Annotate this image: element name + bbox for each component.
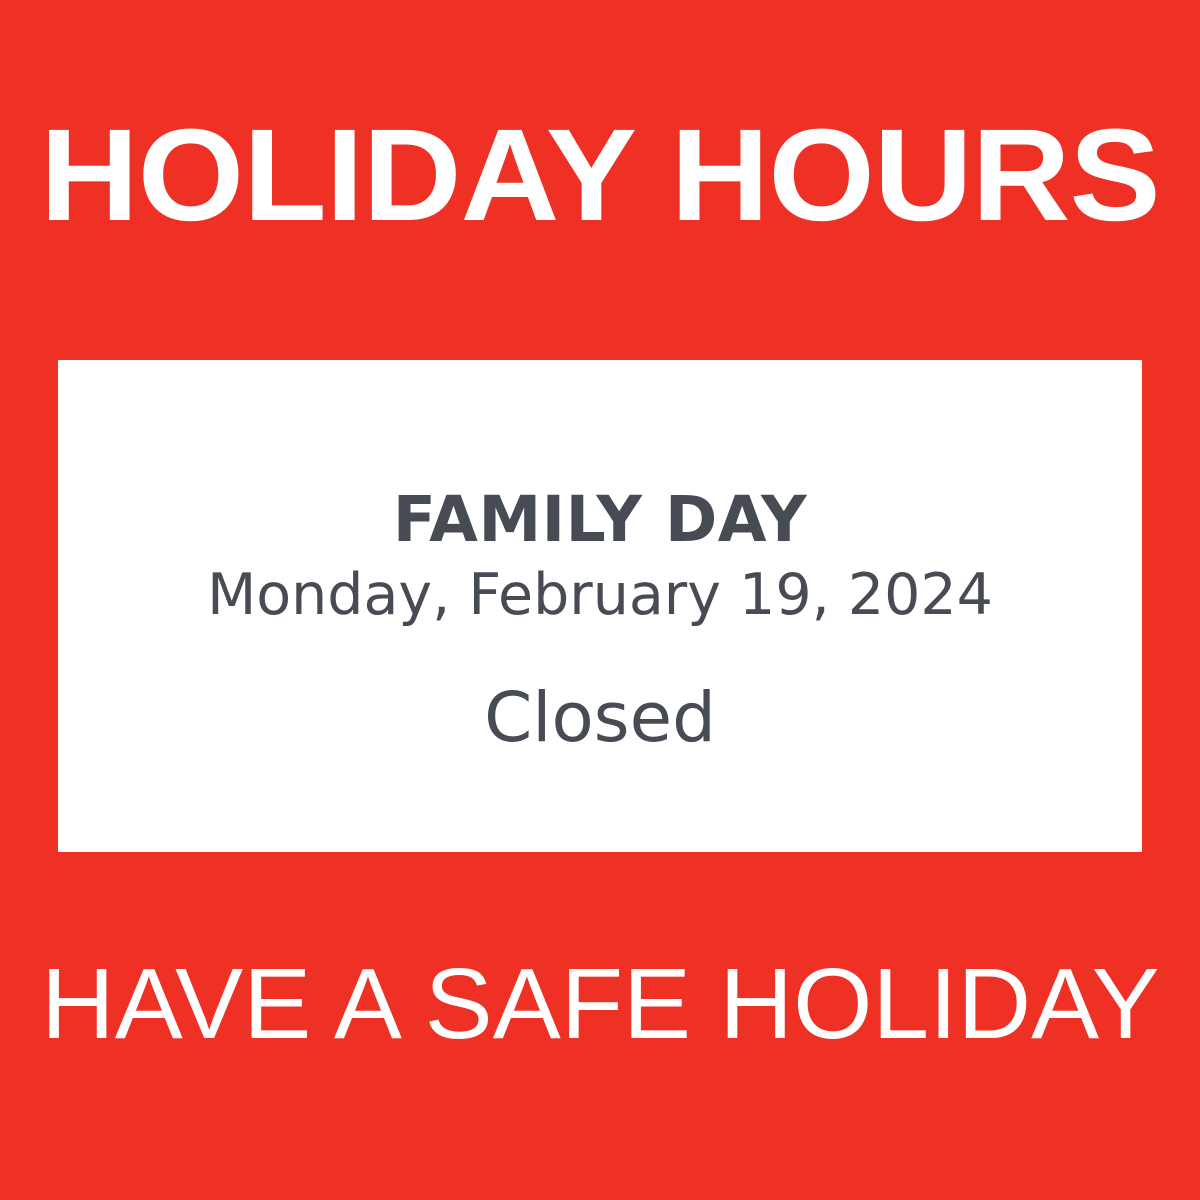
footer-band: HAVE A SAFE HOLIDAY (0, 852, 1200, 1200)
page-title: HOLIDAY HOURS (40, 109, 1160, 240)
status-badge: Closed (58, 682, 1142, 754)
holiday-name: FAMILY DAY (58, 488, 1142, 552)
holiday-detail-card-content: FAMILY DAY Monday, February 19, 2024 Clo… (58, 360, 1142, 755)
holiday-detail-card: FAMILY DAY Monday, February 19, 2024 Clo… (58, 360, 1142, 852)
footer-message: HAVE A SAFE HOLIDAY (41, 954, 1160, 1054)
headline-band: HOLIDAY HOURS (0, 0, 1200, 360)
holiday-hours-sign: HOLIDAY HOURS FAMILY DAY Monday, Februar… (0, 0, 1200, 1200)
holiday-date: Monday, February 19, 2024 (58, 566, 1142, 626)
